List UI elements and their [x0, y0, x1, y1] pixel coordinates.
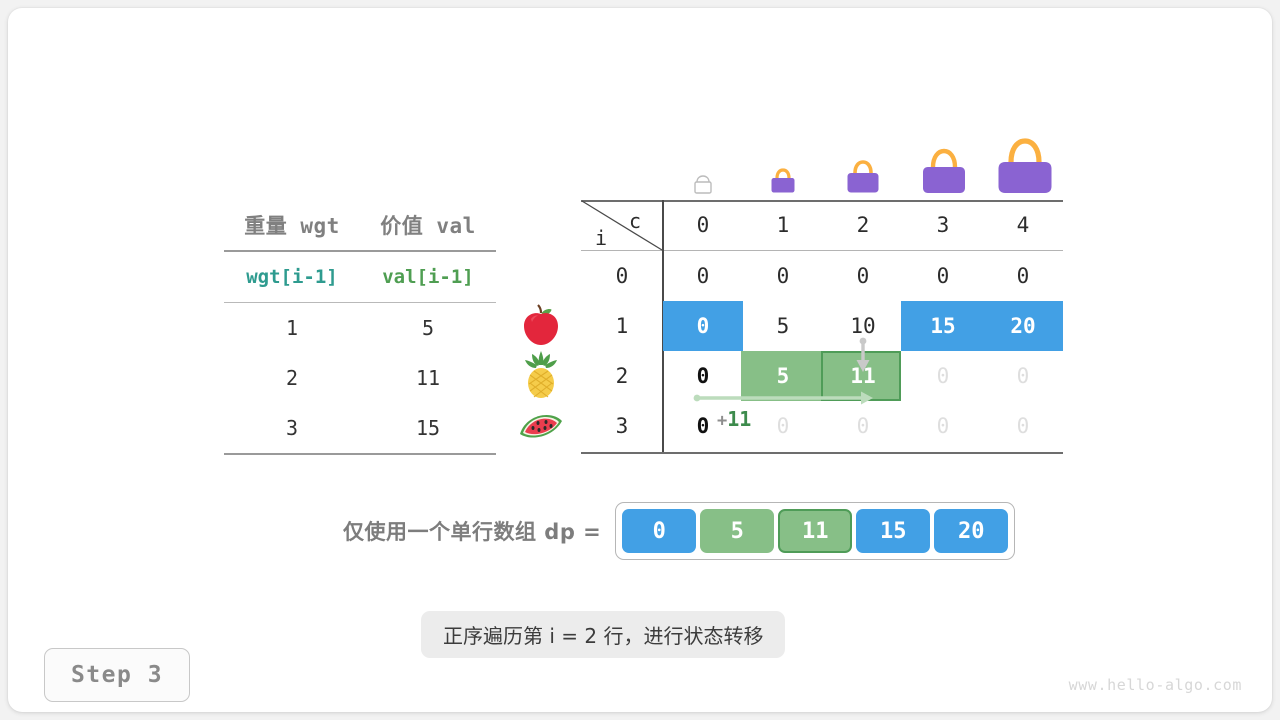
pineapple-icon: [513, 350, 569, 400]
page-background: 重量 wgt 价值 val wgt[i-1] val[i-1] 1 5 2 11…: [0, 0, 1280, 720]
matrix-row: 2 0 5 11 0 0: [581, 351, 1063, 401]
matrix-bottom-rule: [581, 452, 1063, 454]
dp-matrix: c i 0 1 2 3 4 0 0 0 0 0 0 1: [581, 200, 1063, 454]
bag-icon-small: [764, 166, 802, 194]
cell-val: 11: [360, 366, 496, 390]
col-header-4: 4: [983, 200, 1063, 250]
col-header-1: 1: [743, 200, 823, 250]
matrix-cell: 0: [663, 351, 743, 401]
step-badge: Step 3: [44, 648, 190, 702]
matrix-cell: 0: [903, 401, 983, 451]
col-header-0: 0: [663, 200, 743, 250]
capacity-icon-row: [663, 134, 1063, 194]
matrix-cell: 15: [903, 301, 983, 351]
value-added-annotation: +11: [717, 407, 751, 431]
matrix-cell: 5: [743, 301, 823, 351]
cell-wgt: 3: [224, 416, 360, 440]
dp-array-section: 仅使用一个单行数组 dp = 0 5 11 15 20: [343, 503, 1073, 559]
annotation-sign: +: [717, 411, 727, 431]
table-subheader-row: wgt[i-1] val[i-1]: [224, 252, 496, 302]
matrix-row: 3 0 0 0 0 0: [581, 401, 1063, 451]
slide-card: 重量 wgt 价值 val wgt[i-1] val[i-1] 1 5 2 11…: [8, 8, 1272, 712]
caption-text: 正序遍历第 i = 2 行，进行状态转移: [421, 611, 785, 658]
matrix-column-header-row: 0 1 2 3 4: [581, 200, 1063, 250]
row-index: 2: [581, 351, 663, 401]
dp-array-cell: 0: [622, 509, 696, 553]
matrix-cell: 0: [663, 251, 743, 301]
subheader-wgt-expr: wgt[i-1]: [224, 266, 360, 288]
col-header-2: 2: [823, 200, 903, 250]
matrix-cell: 0: [743, 401, 823, 451]
dp-array-container: 0 5 11 15 20: [615, 502, 1015, 560]
bag-icon-xlarge: [990, 138, 1060, 194]
dp-array-label: 仅使用一个单行数组 dp =: [343, 516, 601, 546]
matrix-cell: 0: [663, 301, 743, 351]
cell-val: 15: [360, 416, 496, 440]
bag-icon-large: [915, 148, 973, 194]
item-icon-column: [513, 300, 569, 450]
matrix-cell: 11: [823, 351, 903, 401]
table-row: 2 11: [224, 353, 496, 403]
dp-array-cell: 11: [778, 509, 852, 553]
table-divider-bottom: [224, 453, 496, 455]
matrix-cell: 0: [983, 351, 1063, 401]
matrix-cell: 0: [903, 251, 983, 301]
table-row: 3 15: [224, 403, 496, 453]
header-wgt: 重量 wgt: [224, 210, 360, 240]
subheader-val-expr: val[i-1]: [360, 266, 496, 288]
row-index: 3: [581, 401, 663, 451]
table-row: 1 5: [224, 303, 496, 353]
matrix-cell: 0: [983, 251, 1063, 301]
weight-value-table: 重量 wgt 价值 val wgt[i-1] val[i-1] 1 5 2 11…: [224, 200, 496, 455]
matrix-cell: 10: [823, 301, 903, 351]
matrix-cell: 0: [823, 401, 903, 451]
matrix-cell: 0: [983, 401, 1063, 451]
dp-array-cell: 5: [700, 509, 774, 553]
cell-wgt: 1: [224, 316, 360, 340]
cell-val: 5: [360, 316, 496, 340]
matrix-cell: 0: [903, 351, 983, 401]
watermelon-icon: [513, 400, 569, 450]
matrix-cell: 20: [983, 301, 1063, 351]
row-index: 0: [581, 251, 663, 301]
matrix-cell: 0: [743, 251, 823, 301]
bag-icon-medium: [841, 158, 885, 194]
annotation-value: 11: [727, 407, 751, 431]
col-header-3: 3: [903, 200, 983, 250]
dp-array-cell: 15: [856, 509, 930, 553]
matrix-cell: 0: [823, 251, 903, 301]
cell-wgt: 2: [224, 366, 360, 390]
matrix-cell: 5: [743, 351, 823, 401]
apple-icon: [513, 300, 569, 350]
dp-array-cell: 20: [934, 509, 1008, 553]
row-index: 1: [581, 301, 663, 351]
matrix-row: 0 0 0 0 0 0: [581, 251, 1063, 301]
matrix-row: 1 0 5 10 15 20: [581, 301, 1063, 351]
empty-bag-icon: [689, 174, 717, 194]
header-val: 价值 val: [360, 210, 496, 240]
table-header-row: 重量 wgt 价值 val: [224, 200, 496, 250]
watermark: www.hello-algo.com: [1069, 676, 1242, 694]
